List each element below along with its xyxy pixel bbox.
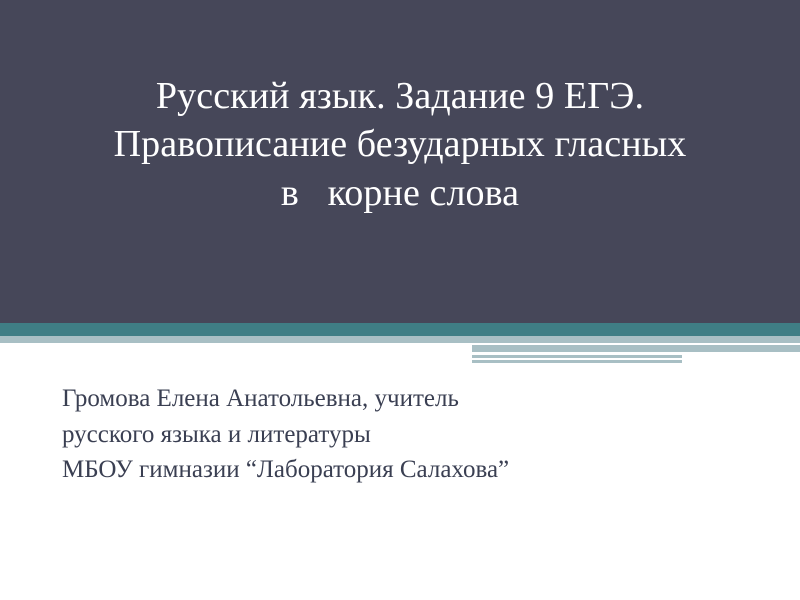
- decorative-divider: [0, 323, 800, 369]
- title-line-1: Русский язык. Задание 9 ЕГЭ.: [156, 72, 644, 121]
- title-slide: Русский язык. Задание 9 ЕГЭ. Правописани…: [0, 0, 800, 600]
- subtitle-line-3: МБОУ гимназии “Лаборатория Салахова”: [62, 452, 742, 488]
- title-line-2: Правописание безударных гласных: [114, 120, 687, 169]
- stripe-notch-1: [477, 343, 737, 345]
- stripe-notch-5: [472, 358, 682, 360]
- subtitle-block: Громова Елена Анатольевна, учитель русск…: [62, 381, 742, 488]
- stripe-notch-3: [477, 352, 581, 355]
- title-line-3: в корне слова: [281, 169, 519, 218]
- subtitle-line-2: русского языка и литературы: [62, 417, 742, 453]
- teal-accent-bar: [0, 323, 800, 336]
- title-block: Русский язык. Задание 9 ЕГЭ. Правописани…: [0, 0, 800, 323]
- stripe-4: [472, 360, 682, 363]
- stepped-stripe-group: [472, 336, 800, 369]
- subtitle-line-1: Громова Елена Анатольевна, учитель: [62, 381, 742, 417]
- stripe-1: [472, 336, 800, 343]
- stripe-notch-2: [737, 343, 800, 345]
- stripe-2: [472, 345, 800, 352]
- pale-accent-bar-left: [0, 336, 472, 343]
- stripe-notch-4: [581, 352, 800, 355]
